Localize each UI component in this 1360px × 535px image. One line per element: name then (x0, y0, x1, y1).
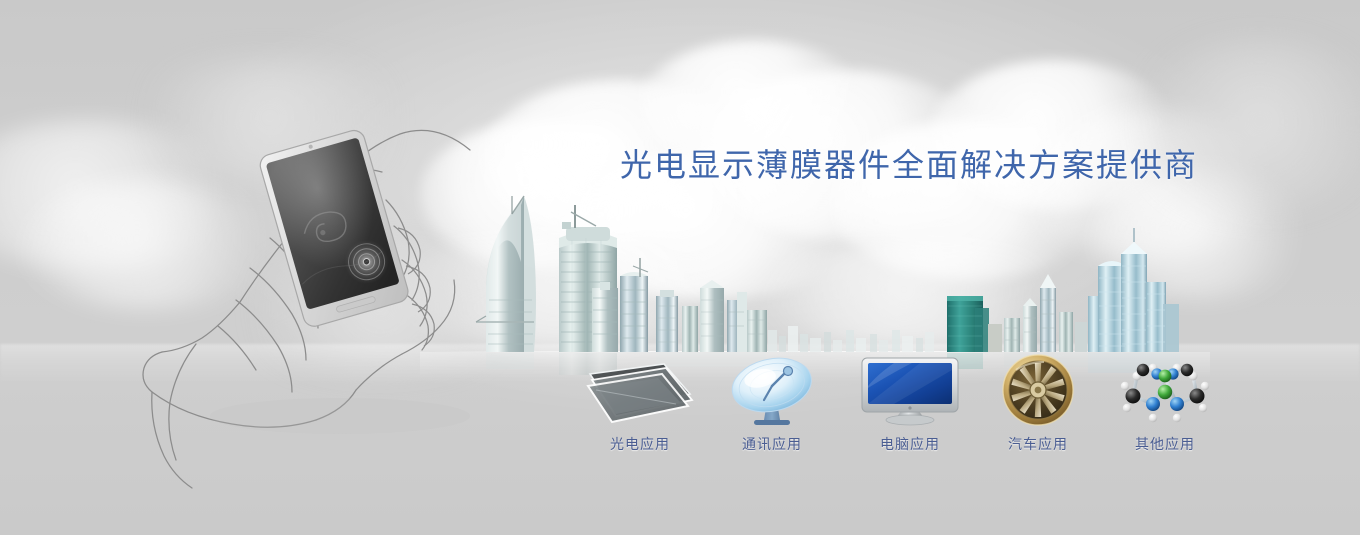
wheel-hub (1030, 382, 1046, 398)
application-label: 电脑应用 (850, 434, 970, 454)
application-item-automotive[interactable]: 汽车应用 (978, 352, 1098, 462)
hero-banner: 光电显示薄膜器件全面解决方案提供商 (0, 0, 1360, 535)
sail-tower (476, 196, 536, 352)
molecule-atoms (1121, 364, 1209, 423)
glass-film-panels-icon (580, 352, 700, 428)
application-label: 汽车应用 (978, 434, 1098, 454)
application-label: 其他应用 (1105, 434, 1225, 454)
alloy-wheel-icon (978, 352, 1098, 428)
application-item-communication[interactable]: 通讯应用 (712, 352, 832, 462)
application-label: 光电应用 (580, 434, 700, 454)
molecule-model-icon (1105, 352, 1225, 428)
sketch-ground-smudge (210, 398, 470, 434)
application-label: 通讯应用 (712, 434, 832, 454)
lcd-monitor-icon (850, 352, 970, 428)
application-item-other[interactable]: 其他应用 (1105, 352, 1225, 462)
monitor-screen (868, 363, 952, 404)
application-icon-row: 光电应用 (560, 352, 1220, 462)
skyline-cluster-far-right-blue (1088, 228, 1179, 352)
skyline-cluster-right-silver (988, 274, 1087, 352)
distant-lowrise-strip (768, 326, 934, 352)
application-item-optoelectronic[interactable]: 光电应用 (580, 352, 700, 462)
hand-holding-phone-illustration (140, 120, 480, 490)
page-title: 光电显示薄膜器件全面解决方案提供商 (620, 140, 1198, 186)
teal-accent-tower (947, 296, 989, 352)
application-item-computer[interactable]: 电脑应用 (850, 352, 970, 462)
skyline-cluster-mid (656, 280, 767, 352)
satellite-dish-icon (712, 352, 832, 428)
